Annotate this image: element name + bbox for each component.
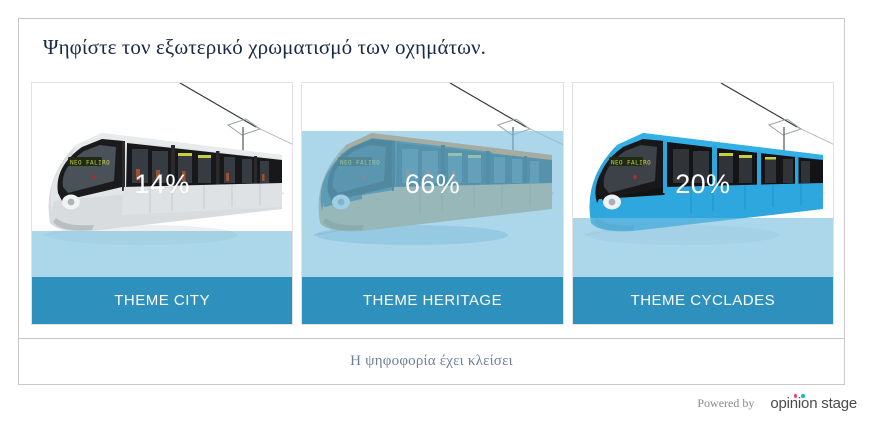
tram-illustration: NEO FALIRO — [573, 83, 833, 279]
poll-container: Ψηφίστε τον εξωτερικό χρωματισμό των οχη… — [18, 18, 845, 385]
svg-text:NEO FALIRO: NEO FALIRO — [611, 160, 651, 167]
tram-illustration: NEO FALIRO — [302, 83, 562, 279]
option-image: NEO FALIRO — [32, 83, 292, 279]
logo-dot-pink-icon — [794, 394, 798, 398]
poll-status-text: Η ψηφοφορία έχει κλείσει — [350, 353, 513, 370]
poll-option-card[interactable]: NEO FALIRO — [301, 82, 563, 325]
option-image: NEO FALIRO — [573, 83, 833, 279]
option-image: NEO FALIRO — [302, 83, 562, 279]
poll-option-card[interactable]: NEO FALIRO — [572, 82, 834, 325]
poll-status-footer: Η ψηφοφορία έχει κλείσει — [19, 338, 844, 384]
svg-text:NEO FALIRO: NEO FALIRO — [340, 160, 380, 167]
option-label: THEME CYCLADES — [573, 277, 833, 324]
tram-illustration: NEO FALIRO — [32, 83, 292, 279]
option-label: THEME CITY — [32, 277, 292, 324]
powered-by-branding: Powered by opinion stage — [697, 396, 857, 411]
poll-question: Ψηφίστε τον εξωτερικό χρωματισμό των οχη… — [43, 35, 486, 60]
poll-option-card[interactable]: NEO FALIRO — [31, 82, 293, 325]
option-label: THEME HERITAGE — [302, 277, 562, 324]
powered-by-label: Powered by — [697, 396, 754, 411]
logo-dot-teal-icon — [801, 394, 805, 398]
poll-options-row: NEO FALIRO — [31, 82, 834, 325]
opinion-stage-logo-text: opinion stage — [770, 395, 857, 412]
svg-text:NEO FALIRO: NEO FALIRO — [70, 160, 110, 167]
opinion-stage-logo[interactable]: opinion stage — [770, 396, 857, 411]
